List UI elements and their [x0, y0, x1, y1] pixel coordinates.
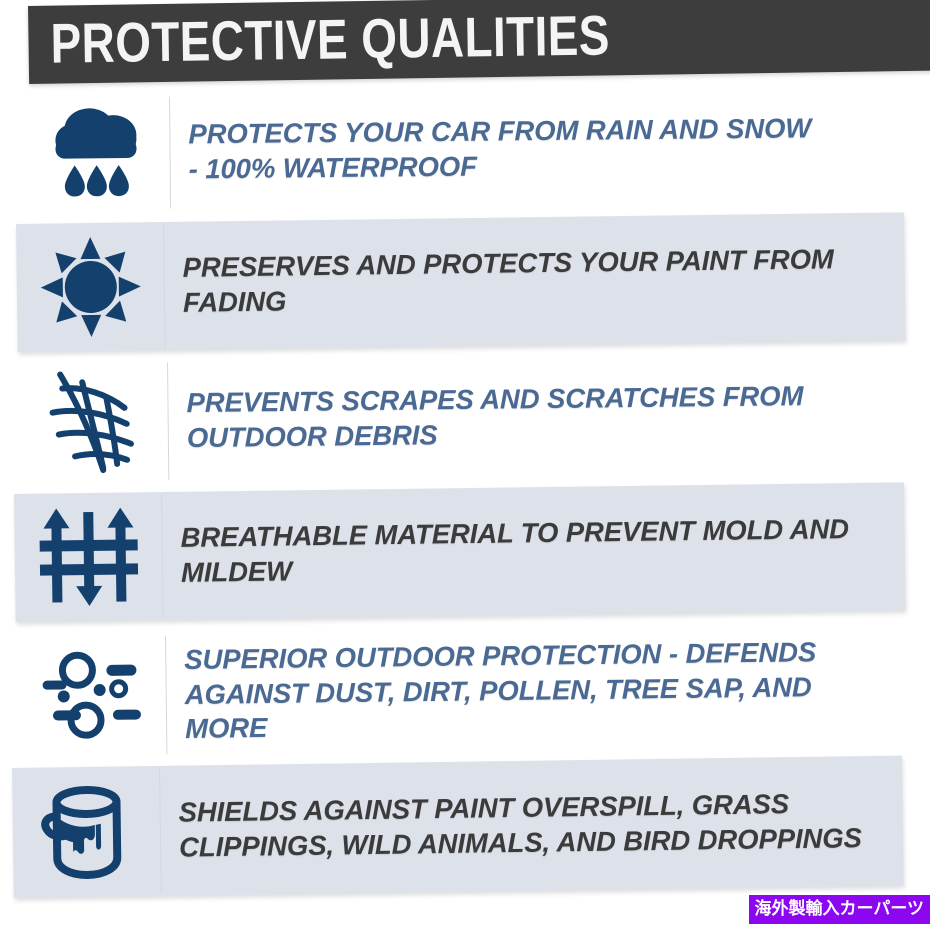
- scratch-mesh-icon: [44, 368, 145, 477]
- feature-row: SUPERIOR OUTDOOR PROTECTION - DEFENDS AG…: [18, 625, 903, 758]
- icon-cell: [14, 492, 164, 622]
- feature-text: SHIELDS AGAINST PAINT OVERSPILL, GRASS C…: [178, 786, 879, 866]
- rain-cloud-icon: [44, 105, 149, 202]
- feature-text: SUPERIOR OUTDOOR PROTECTION - DEFENDS AG…: [184, 634, 879, 747]
- text-cell: SHIELDS AGAINST PAINT OVERSPILL, GRASS C…: [160, 786, 903, 866]
- feature-row: PRESERVES AND PROTECTS YOUR PAINT FROM F…: [16, 212, 906, 352]
- text-cell: PRESERVES AND PROTECTS YOUR PAINT FROM F…: [164, 241, 905, 321]
- icon-cell: [22, 95, 171, 212]
- feature-text: PROTECTS YOUR CAR FROM RAIN AND SNOW - 1…: [188, 111, 891, 188]
- page-title: PROTECTIVE QUALITIES: [50, 1, 610, 77]
- icon-cell: [20, 360, 169, 484]
- paint-bucket-icon: [34, 781, 139, 882]
- icon-cell: [18, 634, 167, 758]
- feature-row: PROTECTS YOUR CAR FROM RAIN AND SNOW - 1…: [22, 87, 915, 212]
- sun-icon: [38, 234, 143, 339]
- text-cell: BREATHABLE MATERIAL TO PREVENT MOLD AND …: [162, 511, 905, 591]
- feature-text: PREVENTS SCRAPES AND SCRATCHES FROM OUTD…: [186, 378, 883, 456]
- text-cell: PROTECTS YOUR CAR FROM RAIN AND SNOW - 1…: [170, 111, 915, 188]
- feature-row: BREATHABLE MATERIAL TO PREVENT MOLD AND …: [14, 482, 906, 622]
- header-banner: PROTECTIVE QUALITIES: [28, 0, 930, 84]
- breathable-airflow-icon: [35, 505, 142, 608]
- feature-text: BREATHABLE MATERIAL TO PREVENT MOLD AND …: [180, 512, 881, 591]
- text-cell: PREVENTS SCRAPES AND SCRATCHES FROM OUTD…: [168, 378, 907, 456]
- icon-cell: [12, 766, 162, 898]
- feature-text: PRESERVES AND PROTECTS YOUR PAINT FROM F…: [182, 242, 881, 321]
- feature-row: SHIELDS AGAINST PAINT OVERSPILL, GRASS C…: [12, 756, 904, 898]
- watermark-badge: 海外製輸入カーパーツ: [749, 895, 930, 924]
- infographic-root: PROTECTIVE QUALITIES PROTECTS YOUR CAR F…: [0, 0, 930, 930]
- dust-particles-icon: [36, 647, 149, 744]
- text-cell: SUPERIOR OUTDOOR PROTECTION - DEFENDS AG…: [166, 634, 903, 748]
- feature-row: PREVENTS SCRAPES AND SCRATCHES FROM OUTD…: [20, 352, 907, 484]
- icon-cell: [16, 222, 166, 352]
